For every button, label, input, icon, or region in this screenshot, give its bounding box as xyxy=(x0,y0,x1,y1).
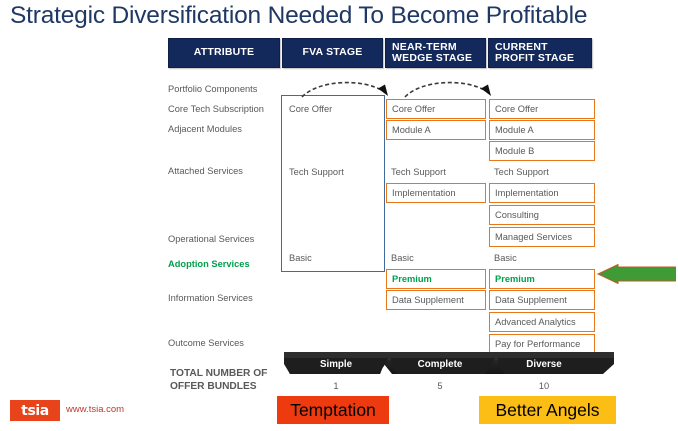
column-header-near-term-wedge-stage: NEAR-TERM WEDGE STAGE xyxy=(385,38,486,68)
column-header-fva-stage-line1: FVA STAGE xyxy=(303,47,363,59)
total-value-fva: 1 xyxy=(288,381,384,391)
total-bundles-label-line1: TOTAL NUMBER OF xyxy=(170,368,290,381)
column-header-near-term-line2: WEDGE STAGE xyxy=(392,53,472,65)
attribute-label: Operational Services xyxy=(168,234,280,244)
table-cell: Premium xyxy=(489,269,595,289)
table-cell: Module A xyxy=(489,120,595,140)
column-header-fva-stage: FVA STAGE xyxy=(282,38,383,68)
table-cell: Data Supplement xyxy=(489,290,595,310)
table-cell: Premium xyxy=(386,269,486,289)
table-cell: Implementation xyxy=(489,183,595,203)
table-cell: Core Offer xyxy=(489,99,595,119)
column-header-attribute-line1: ATTRIBUTE xyxy=(194,47,255,59)
total-bundles-label-line2: OFFER BUNDLES xyxy=(170,381,290,394)
total-bundles-label: TOTAL NUMBER OF OFFER BUNDLES xyxy=(170,368,290,393)
tsia-logo: tsia xyxy=(10,400,60,421)
column-header-current-profit-stage: CURRENT PROFIT STAGE xyxy=(488,38,592,68)
tsia-url[interactable]: www.tsia.com xyxy=(66,404,124,415)
stage-ribbon xyxy=(284,352,614,374)
table-cell: Tech Support xyxy=(284,162,384,182)
page-title: Strategic Diversification Needed To Beco… xyxy=(10,2,670,30)
fva-stage-outline xyxy=(281,95,385,272)
table-cell: Tech Support xyxy=(386,162,486,182)
table-cell: Basic xyxy=(386,248,486,268)
table-cell: Data Supplement xyxy=(386,290,486,310)
callout-better-angels: Better Angels xyxy=(479,396,616,424)
attribute-label: Core Tech Subscription xyxy=(168,104,280,114)
attribute-label: Information Services xyxy=(168,293,280,303)
table-cell: Module B xyxy=(489,141,595,161)
slide-canvas: Strategic Diversification Needed To Beco… xyxy=(0,0,678,431)
attribute-label: Attached Services xyxy=(168,166,280,176)
attribute-label: Portfolio Components xyxy=(168,84,280,94)
attribute-label: Adoption Services xyxy=(168,259,280,269)
tsia-logo-text: tsia xyxy=(21,403,49,419)
table-cell: Basic xyxy=(284,248,384,268)
table-cell: Module A xyxy=(386,120,486,140)
table-cell: Advanced Analytics xyxy=(489,312,595,332)
attribute-label: Adjacent Modules xyxy=(168,124,280,134)
callout-temptation: Temptation xyxy=(277,396,389,424)
table-cell: Core Offer xyxy=(284,99,384,119)
left-arrow-icon xyxy=(596,264,676,284)
table-cell: Basic xyxy=(489,248,595,268)
column-header-current-line2: PROFIT STAGE xyxy=(495,53,574,65)
total-value-near-term: 5 xyxy=(392,381,488,391)
table-cell: Core Offer xyxy=(386,99,486,119)
table-cell: Implementation xyxy=(386,183,486,203)
dashed-curved-arrow-icon-2 xyxy=(403,78,498,98)
table-cell: Tech Support xyxy=(489,162,595,182)
table-cell: Managed Services xyxy=(489,227,595,247)
total-value-current: 10 xyxy=(494,381,594,391)
column-header-attribute: ATTRIBUTE xyxy=(168,38,280,68)
attribute-label: Outcome Services xyxy=(168,338,280,348)
table-cell: Consulting xyxy=(489,205,595,225)
table-cell: Pay for Performance xyxy=(489,334,595,354)
